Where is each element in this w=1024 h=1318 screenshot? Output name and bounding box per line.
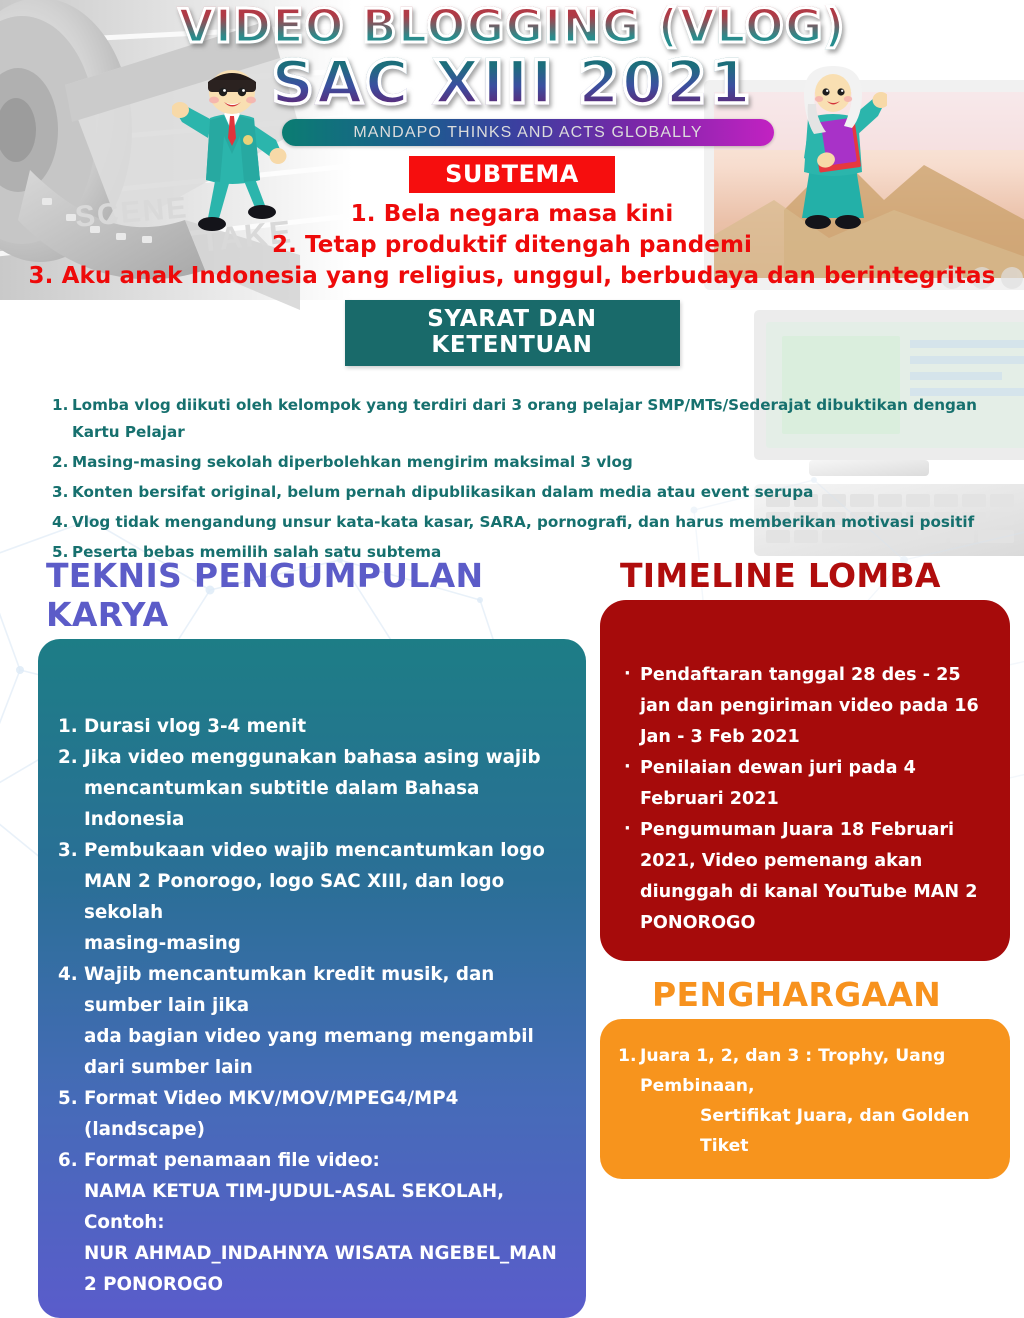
penghargaan-panel: 1. Juara 1, 2, dan 3 : Trophy, Uang Pemb… [600,1019,1010,1179]
list-item-number: 2. [52,449,68,476]
list-item-line: ada bagian video yang memang mengambil d… [84,1021,568,1083]
list-item-number: 3. [58,835,78,866]
page-title-secondary: SAC XIII 2021 [0,52,1024,114]
teknis-panel: 1. Durasi vlog 3-4 menit 2. Jika video m… [38,639,586,1318]
list-item-line: mencantumkan subtitle dalam Bahasa Indon… [84,773,568,835]
list-item-text: Masing-masing sekolah diperbolehkan meng… [72,453,633,471]
list-item: · Pendaftaran tanggal 28 des - 25 jan da… [624,660,988,753]
tagline-text: MANDAPO THINKS AND ACTS GLOBALLY [353,124,702,142]
list-item: 1. Durasi vlog 3-4 menit [58,711,568,742]
list-item: 1. Lomba vlog diikuti oleh kelompok yang… [52,392,982,446]
list-item-number: 3. [52,479,68,506]
timeline-section: TIMELINE LOMBA · Pendaftaran tanggal 28 … [600,556,1010,961]
poster-header: VIDEO BLOGGING (VLOG) SAC XIII 2021 MAND… [0,0,1024,150]
subtema-section: SUBTEMA 1. Bela negara masa kini 2. Teta… [0,156,1024,292]
timeline-list: · Pendaftaran tanggal 28 des - 25 jan da… [624,660,988,939]
list-item-line: Penilaian dewan juri pada 4 Februari 202… [640,758,916,809]
list-item-line: Jika video menggunakan bahasa asing waji… [84,742,568,773]
bullet-icon: · [624,752,631,783]
list-item: 1. Bela negara masa kini [0,199,1024,230]
penghargaan-title: PENGHARGAAN [652,975,1010,1014]
list-item-line: NAMA KETUA TIM-JUDUL-ASAL SEKOLAH, [84,1176,568,1207]
list-item: 5. Format Video MKV/MOV/MPEG4/MP4 (lands… [58,1083,568,1145]
list-item-line: Sertifikat Juara, dan Golden Tiket [640,1101,992,1161]
list-item-number: 1. [618,1041,637,1071]
list-item: 3. Konten bersifat original, belum perna… [52,479,982,506]
list-item-line: Durasi vlog 3-4 menit [84,711,568,742]
list-item-number: 5. [58,1083,78,1114]
timeline-panel: · Pendaftaran tanggal 28 des - 25 jan da… [600,600,1010,961]
list-item-line: Format Video MKV/MOV/MPEG4/MP4 (landscap… [84,1083,568,1145]
timeline-title: TIMELINE LOMBA [620,556,1010,595]
list-item-line: Contoh: [84,1207,568,1238]
list-item-line: Juara 1, 2, dan 3 : Trophy, Uang Pembina… [640,1046,945,1096]
subtema-badge: SUBTEMA [409,156,615,193]
list-item: 4. Vlog tidak mengandung unsur kata-kata… [52,509,982,536]
list-item-line: NUR AHMAD_INDAHNYA WISATA NGEBEL_MAN 2 P… [84,1238,568,1300]
teknis-section: TEKNIS PENGUMPULAN KARYA 1. Durasi vlog … [38,556,586,1318]
right-column: TIMELINE LOMBA · Pendaftaran tanggal 28 … [600,556,1010,1179]
bullet-icon: · [624,659,631,690]
list-item-number: 2. [58,742,78,773]
list-item-line: Format penamaan file video: [84,1145,568,1176]
list-item: 2. Masing-masing sekolah diperbolehkan m… [52,449,982,476]
list-item-number: 1. [52,392,68,419]
syarat-header-banner: SYARAT DAN KETENTUAN [345,300,680,366]
list-item-number: 6. [58,1145,78,1176]
list-item-text: Lomba vlog diikuti oleh kelompok yang te… [72,396,977,441]
list-item-text: Vlog tidak mengandung unsur kata-kata ka… [72,513,974,531]
list-item-line: MAN 2 Ponorogo, logo SAC XIII, dan logo … [84,866,568,928]
syarat-section: SYARAT DAN KETENTUAN 1. Lomba vlog diiku… [0,300,1024,569]
list-item: 3. Pembukaan video wajib mencantumkan lo… [58,835,568,959]
list-item-line: masing-masing [84,928,568,959]
bullet-icon: · [624,814,631,845]
subtema-list: 1. Bela negara masa kini 2. Tetap produk… [0,199,1024,292]
syarat-list: 1. Lomba vlog diikuti oleh kelompok yang… [52,392,982,566]
list-item: 4. Wajib mencantumkan kredit musik, dan … [58,959,568,1083]
tagline-banner: MANDAPO THINKS AND ACTS GLOBALLY [282,119,774,146]
list-item-number: 4. [58,959,78,990]
list-item: 6. Format penamaan file video: NAMA KETU… [58,1145,568,1300]
penghargaan-section: PENGHARGAAN 1. Juara 1, 2, dan 3 : Troph… [600,975,1010,1179]
penghargaan-list: 1. Juara 1, 2, dan 3 : Trophy, Uang Pemb… [618,1041,992,1161]
list-item-line: Pembukaan video wajib mencantumkan logo [84,835,568,866]
list-item-number: 4. [52,509,68,536]
teknis-list: 1. Durasi vlog 3-4 menit 2. Jika video m… [58,711,568,1300]
list-item: 1. Juara 1, 2, dan 3 : Trophy, Uang Pemb… [618,1041,992,1161]
page-title-primary: VIDEO BLOGGING (VLOG) [0,2,1024,50]
list-item: 2. Jika video menggunakan bahasa asing w… [58,742,568,835]
list-item-text: Konten bersifat original, belum pernah d… [72,483,813,501]
list-item-line: Wajib mencantumkan kredit musik, dan sum… [84,959,568,1021]
list-item: 3. Aku anak Indonesia yang religius, ung… [0,261,1024,292]
teknis-title: TEKNIS PENGUMPULAN KARYA [46,556,586,634]
list-item: · Pengumuman Juara 18 Februari 2021, Vid… [624,815,988,939]
list-item: 2. Tetap produktif ditengah pandemi [0,230,1024,261]
list-item-number: 1. [58,711,78,742]
list-item: · Penilaian dewan juri pada 4 Februari 2… [624,753,988,815]
